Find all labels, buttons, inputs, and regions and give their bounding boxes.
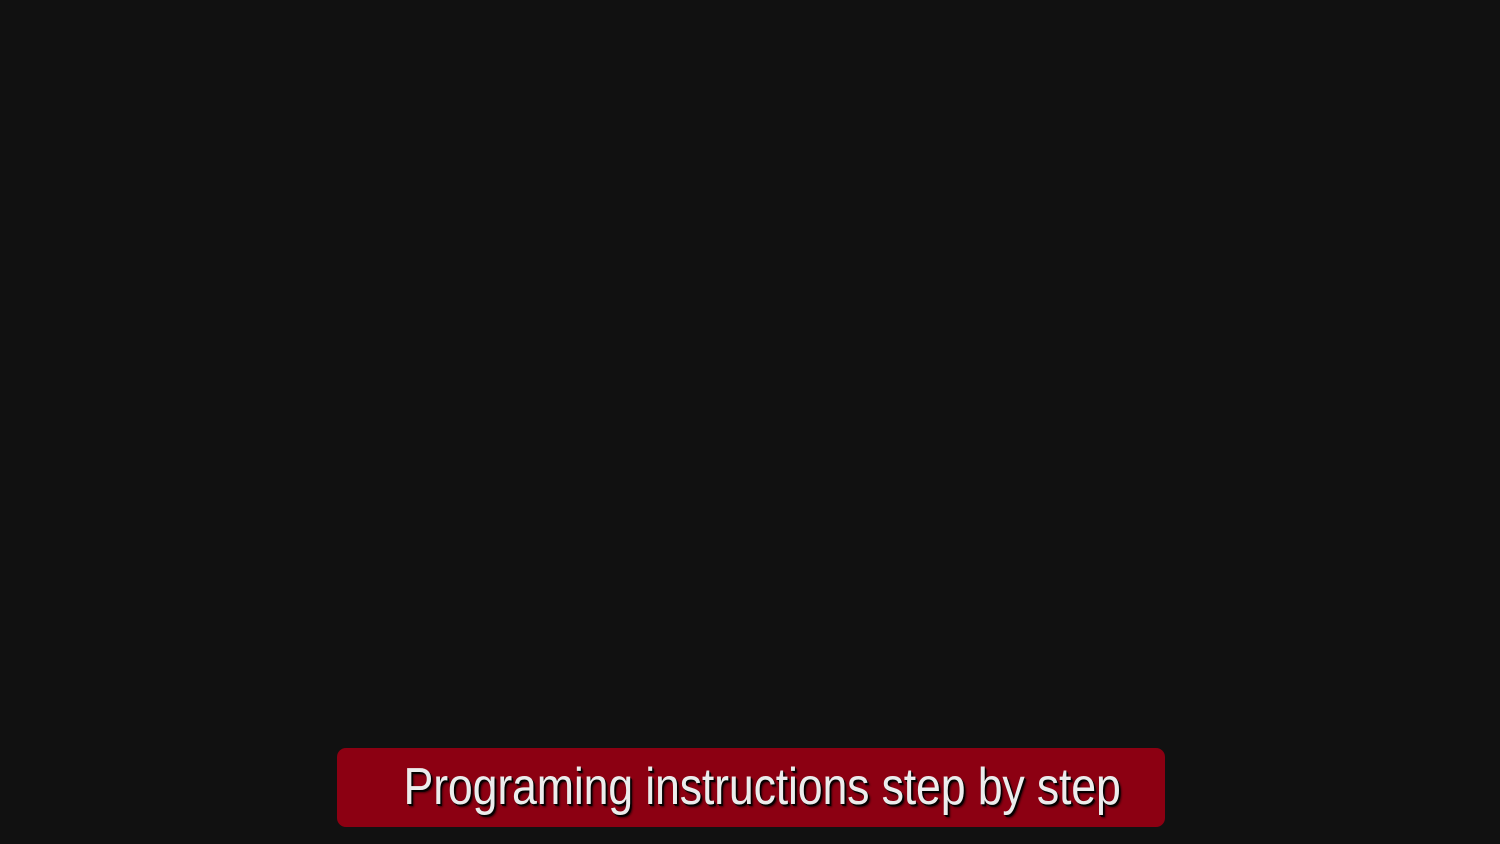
caption-text: Programing instructions step by step [404,761,1099,813]
caption-banner: Programing instructions step by step [337,748,1165,827]
video-screen: Programing instructions step by step [0,0,1500,844]
video-stage[interactable] [0,0,1500,844]
